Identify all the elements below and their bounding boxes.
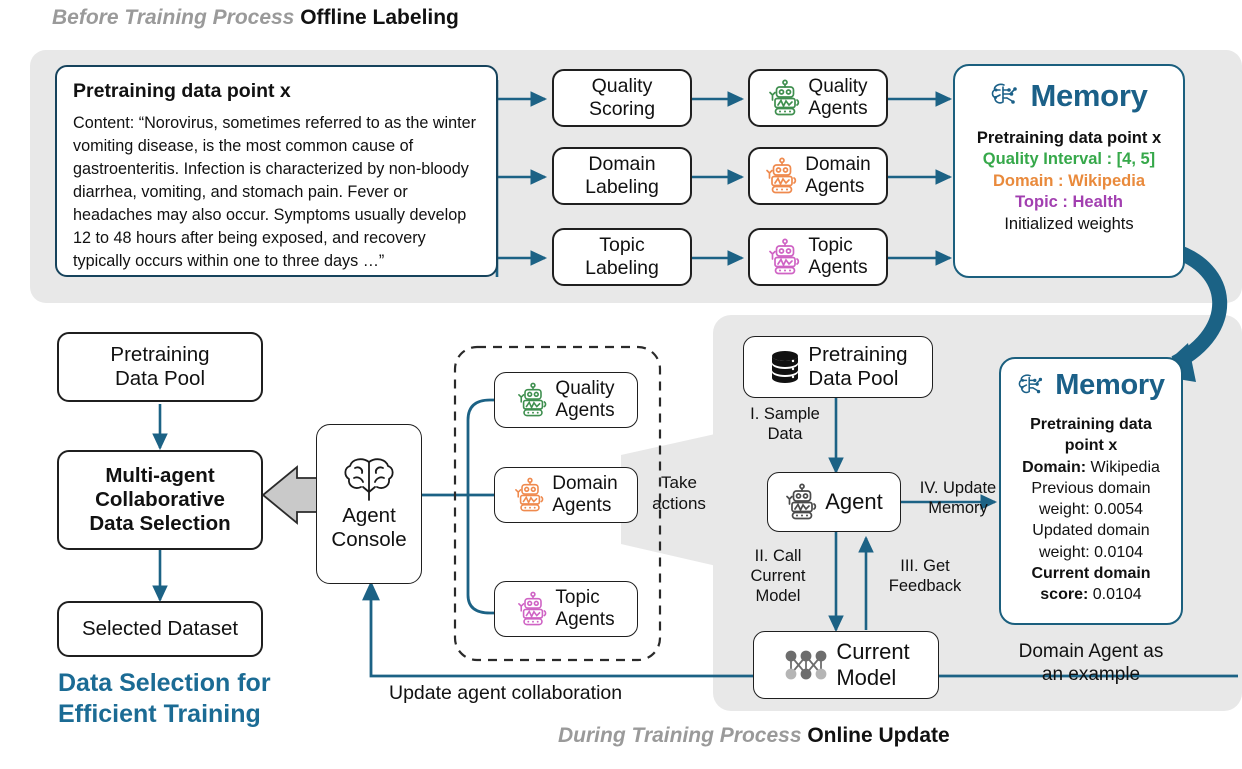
agent-card-quality[interactable]: Quality Agents <box>748 69 888 127</box>
database-icon <box>768 349 802 385</box>
datapoint-title: Pretraining data point x <box>73 80 291 103</box>
memory-line-2: point x <box>1022 435 1160 456</box>
agent-label: Topic Agents <box>808 235 867 279</box>
task-card-domain-labeling[interactable]: Domain Labeling <box>552 147 692 205</box>
memory-domain-value: Wikipedia <box>1086 459 1160 476</box>
selected-label: Selected Dataset <box>82 617 238 641</box>
memory-header: Memory <box>990 78 1147 114</box>
online-caption: During Training Process Online Update <box>558 724 950 748</box>
memory-body: Pretraining data point x Quality Interva… <box>977 128 1161 235</box>
memory-header: Memory <box>1017 369 1164 402</box>
agent-label: Domain Agents <box>805 154 870 198</box>
pool-label: Pretraining Data Pool <box>110 343 209 391</box>
robot-icon <box>768 238 802 276</box>
memory-line-7: weight: 0.0104 <box>1022 542 1160 563</box>
online-data-pool-card[interactable]: Pretraining Data Pool <box>743 336 933 398</box>
selection-agent-card-topic[interactable]: Topic Agents <box>494 581 638 637</box>
current-model-label: Current Model <box>836 639 909 690</box>
domain-agent-note: Domain Agent as an example <box>1000 640 1182 686</box>
robot-icon <box>514 477 546 513</box>
take-actions-label: Take actions <box>640 473 718 514</box>
task-card-topic-labeling[interactable]: Topic Labeling <box>552 228 692 286</box>
diagram-canvas: Before Training Process Offline Labeling… <box>0 0 1242 769</box>
memory-line-topic: Topic : Health <box>977 192 1161 213</box>
robot-icon <box>785 483 819 521</box>
agent-label: Domain Agents <box>552 473 617 517</box>
robot-icon <box>517 382 549 418</box>
task-label: Topic Labeling <box>585 234 659 280</box>
selection-title: Data Selection for Efficient Training <box>58 668 298 731</box>
neural-network-icon <box>782 646 830 684</box>
memory-line-quality: Quality Interval : [4, 5] <box>977 149 1161 170</box>
memory-line-datapoint: Pretraining data point x <box>977 128 1161 149</box>
pretraining-data-pool-card[interactable]: Pretraining Data Pool <box>57 332 263 402</box>
online-caption-bold: Online Update <box>807 724 949 747</box>
robot-icon <box>768 79 802 117</box>
agent-console-label: Agent Console <box>331 504 406 552</box>
online-agent-label: Agent <box>825 489 883 515</box>
memory-line-1: Pretraining data <box>1022 414 1160 435</box>
step-4-label: IV. Update Memory <box>906 478 1010 518</box>
memory-score-value: 0.0104 <box>1088 586 1141 603</box>
agent-card-domain[interactable]: Domain Agents <box>748 147 888 205</box>
agent-console-card[interactable]: Agent Console <box>316 424 422 584</box>
offline-caption: Before Training Process Offline Labeling <box>52 6 459 30</box>
robot-icon <box>517 591 549 627</box>
online-agent-card[interactable]: Agent <box>767 472 901 532</box>
online-data-pool-label: Pretraining Data Pool <box>808 343 907 391</box>
current-model-card[interactable]: Current Model <box>753 631 939 699</box>
offline-caption-italic: Before Training Process <box>52 6 294 29</box>
task-card-quality-scoring[interactable]: Quality Scoring <box>552 69 692 127</box>
memory-line-weights: Initialized weights <box>977 214 1161 235</box>
step-3-label: III. Get Feedback <box>872 556 978 596</box>
agent-label: Topic Agents <box>555 587 614 631</box>
selected-dataset-card[interactable]: Selected Dataset <box>57 601 263 657</box>
memory-card-online: Memory Pretraining data point x Domain: … <box>999 357 1183 625</box>
datapoint-content: Content: “Norovirus, sometimes referred … <box>73 112 480 273</box>
agent-label: Quality Agents <box>555 378 614 422</box>
memory-line-5: weight: 0.0054 <box>1022 499 1160 520</box>
memory-title: Memory <box>1030 78 1147 114</box>
memory-line-4: Previous domain <box>1022 478 1160 499</box>
memory-line-6: Updated domain <box>1022 520 1160 541</box>
multi-agent-label: Multi-agent Collaborative Data Selection <box>89 464 230 537</box>
agent-card-topic[interactable]: Topic Agents <box>748 228 888 286</box>
update-collaboration-label: Update agent collaboration <box>389 682 699 706</box>
memory-title: Memory <box>1055 369 1164 402</box>
selection-agent-card-domain[interactable]: Domain Agents <box>494 467 638 523</box>
brain-chip-icon <box>1017 372 1047 400</box>
task-label: Quality Scoring <box>589 75 655 121</box>
agent-label: Quality Agents <box>808 76 867 120</box>
offline-caption-bold: Offline Labeling <box>300 6 459 29</box>
memory-line-8: Current domain <box>1022 563 1160 584</box>
memory-line-3: Domain: Wikipedia <box>1022 457 1160 478</box>
step-1-label: I. Sample Data <box>737 404 833 444</box>
task-label: Domain Labeling <box>585 153 659 199</box>
brain-chip-icon <box>990 81 1022 111</box>
multi-agent-selection-card[interactable]: Multi-agent Collaborative Data Selection <box>57 450 263 550</box>
selection-agent-card-quality[interactable]: Quality Agents <box>494 372 638 428</box>
robot-icon <box>765 157 799 195</box>
online-caption-italic: During Training Process <box>558 724 802 747</box>
memory-line-domain: Domain : Wikipedia <box>977 171 1161 192</box>
pretraining-datapoint-card: Pretraining data point x Content: “Norov… <box>55 65 498 277</box>
memory-domain-key: Domain: <box>1022 459 1086 476</box>
memory-score-key: score: <box>1040 586 1088 603</box>
memory-line-9: score: 0.0104 <box>1022 584 1160 605</box>
memory-card-offline: Memory Pretraining data point x Quality … <box>953 64 1185 278</box>
step-2-label: II. Call Current Model <box>730 546 826 606</box>
brain-icon <box>342 456 396 502</box>
memory-body: Pretraining data point x Domain: Wikiped… <box>1022 414 1160 605</box>
